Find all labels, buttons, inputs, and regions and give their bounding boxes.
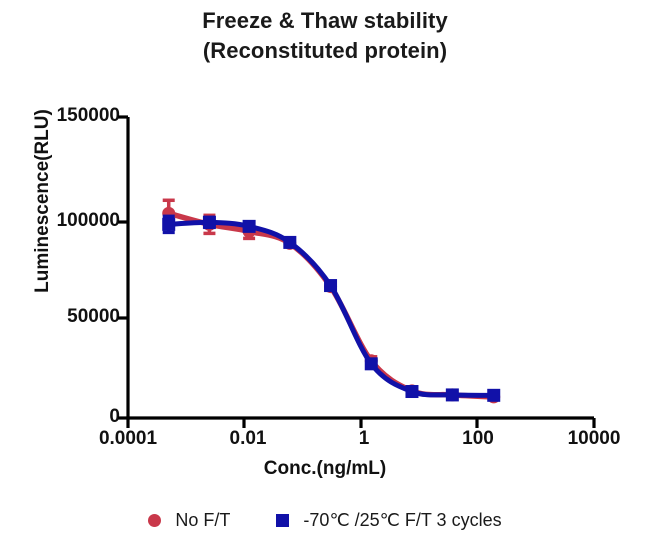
legend-item-no-ft[interactable]: No F/T (148, 510, 230, 531)
data-point (283, 236, 296, 249)
plot-area (0, 0, 650, 545)
series-no-ft (162, 200, 500, 403)
data-point (324, 279, 337, 292)
data-series-layer (162, 200, 500, 403)
axis-lines (118, 117, 594, 428)
circle-marker-icon (148, 514, 161, 527)
chart-figure: Freeze & Thaw stability (Reconstituted p… (0, 0, 650, 545)
legend-item-ft-3-cycles[interactable]: -70℃ /25℃ F/T 3 cycles (276, 510, 501, 531)
square-marker-icon (276, 514, 289, 527)
data-point (446, 388, 459, 401)
data-point (405, 385, 418, 398)
data-point (365, 357, 378, 370)
data-point (243, 220, 256, 233)
chart-legend: No F/T -70℃ /25℃ F/T 3 cycles (0, 503, 650, 537)
data-point (162, 218, 175, 231)
data-point (203, 216, 216, 229)
legend-label-ft-3-cycles: -70℃ /25℃ F/T 3 cycles (303, 510, 501, 531)
fit-curve (169, 222, 494, 395)
legend-label-no-ft: No F/T (175, 510, 230, 531)
fit-curve (169, 213, 494, 397)
data-point (487, 389, 500, 402)
series-ft-3-cycles (162, 216, 500, 402)
